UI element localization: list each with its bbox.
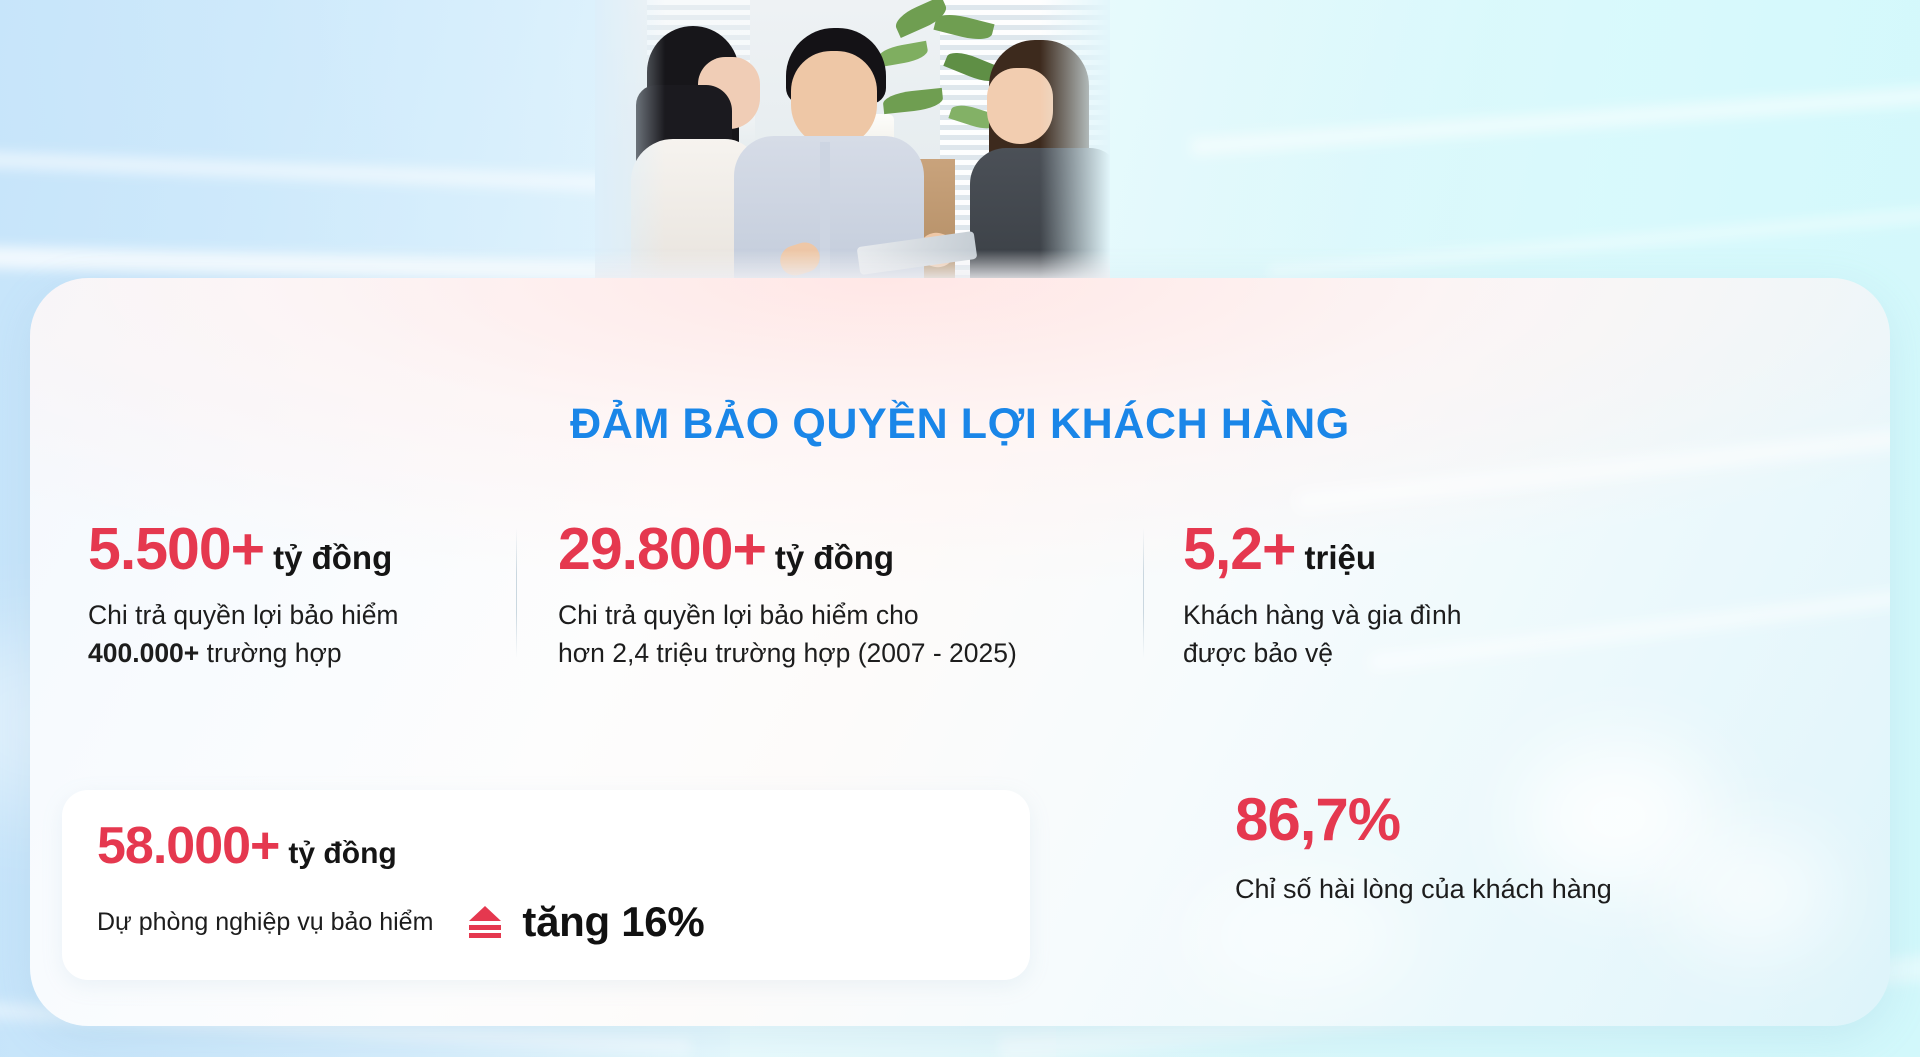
page-title: ĐẢM BẢO QUYỀN LỢI KHÁCH HÀNG	[0, 400, 1920, 449]
person-center-face	[791, 51, 877, 147]
satisfaction-value: 86,7%	[1235, 786, 1400, 853]
reserve-card-footer: Dự phòng nghiệp vụ bảo hiểm tăng 16%	[97, 898, 1006, 946]
stat-value: 5.500+	[88, 516, 264, 582]
satisfaction-figure: 86,7%	[1235, 790, 1612, 850]
column-divider	[516, 528, 517, 658]
reserve-unit: tỷ đồng	[288, 837, 396, 870]
stat-description: Khách hàng và gia đình được bảo vệ	[1183, 596, 1461, 673]
stat-value: 5,2+	[1183, 516, 1295, 582]
stat-block-total-claims: 29.800+tỷ đồng Chi trả quyền lợi bảo hiể…	[558, 520, 1017, 673]
stat-unit: triệu	[1304, 539, 1376, 576]
photo-edge-fade	[595, 0, 665, 284]
stat-unit: tỷ đồng	[273, 539, 392, 576]
stat-figure: 5,2+triệu	[1183, 520, 1461, 579]
stat-unit: tỷ đồng	[775, 539, 894, 576]
stat-description: Chi trả quyền lợi bảo hiểm cho hơn 2,4 t…	[558, 596, 1017, 673]
column-divider	[1143, 528, 1144, 658]
stat-description-line-1: Chi trả quyền lợi bảo hiểm	[88, 596, 399, 634]
reserve-card: 58.000+tỷ đồng Dự phòng nghiệp vụ bảo hi…	[62, 790, 1030, 980]
stat-description: Chi trả quyền lợi bảo hiểm 400.000+ trườ…	[88, 596, 399, 673]
stat-description-rest: được bảo vệ	[1183, 638, 1333, 668]
stat-figure: 5.500+tỷ đồng	[88, 520, 399, 579]
stat-description-line-2: được bảo vệ	[1183, 634, 1461, 672]
reserve-value: 58.000+	[97, 817, 279, 875]
stats-row-top: 5.500+tỷ đồng Chi trả quyền lợi bảo hiểm…	[0, 520, 1920, 700]
card-glow	[1667, 832, 1837, 952]
hero-photo	[595, 0, 1110, 284]
stat-block-satisfaction: 86,7% Chỉ số hài lòng của khách hàng	[1235, 790, 1612, 909]
stat-description-line-2: hơn 2,4 triệu trường hợp (2007 - 2025)	[558, 634, 1017, 672]
stat-description-rest: hơn 2,4 triệu trường hợp (2007 - 2025)	[558, 638, 1017, 668]
stat-description-rest: trường hợp	[199, 638, 341, 668]
increase-arrow-icon	[465, 902, 505, 942]
stat-description-line-2: 400.000+ trường hợp	[88, 634, 399, 672]
stat-value: 29.800+	[558, 516, 766, 582]
stat-description-line-1: Chi trả quyền lợi bảo hiểm cho	[558, 596, 1017, 634]
reserve-description: Dự phòng nghiệp vụ bảo hiểm	[97, 908, 433, 937]
photo-edge-fade	[1040, 0, 1110, 284]
growth-text: tăng 16%	[522, 898, 704, 946]
stat-block-claims-paid: 5.500+tỷ đồng Chi trả quyền lợi bảo hiểm…	[88, 520, 399, 673]
consultation-photo-illustration	[595, 0, 1110, 284]
stat-figure: 29.800+tỷ đồng	[558, 520, 1017, 579]
growth-indicator: tăng 16%	[465, 898, 704, 946]
stat-block-customers-protected: 5,2+triệu Khách hàng và gia đình được bả…	[1183, 520, 1461, 673]
reserve-figure: 58.000+tỷ đồng	[97, 820, 397, 872]
stat-description-highlight: 400.000+	[88, 638, 199, 668]
stat-description-line-1: Khách hàng và gia đình	[1183, 596, 1461, 634]
satisfaction-description: Chỉ số hài lòng của khách hàng	[1235, 870, 1612, 909]
